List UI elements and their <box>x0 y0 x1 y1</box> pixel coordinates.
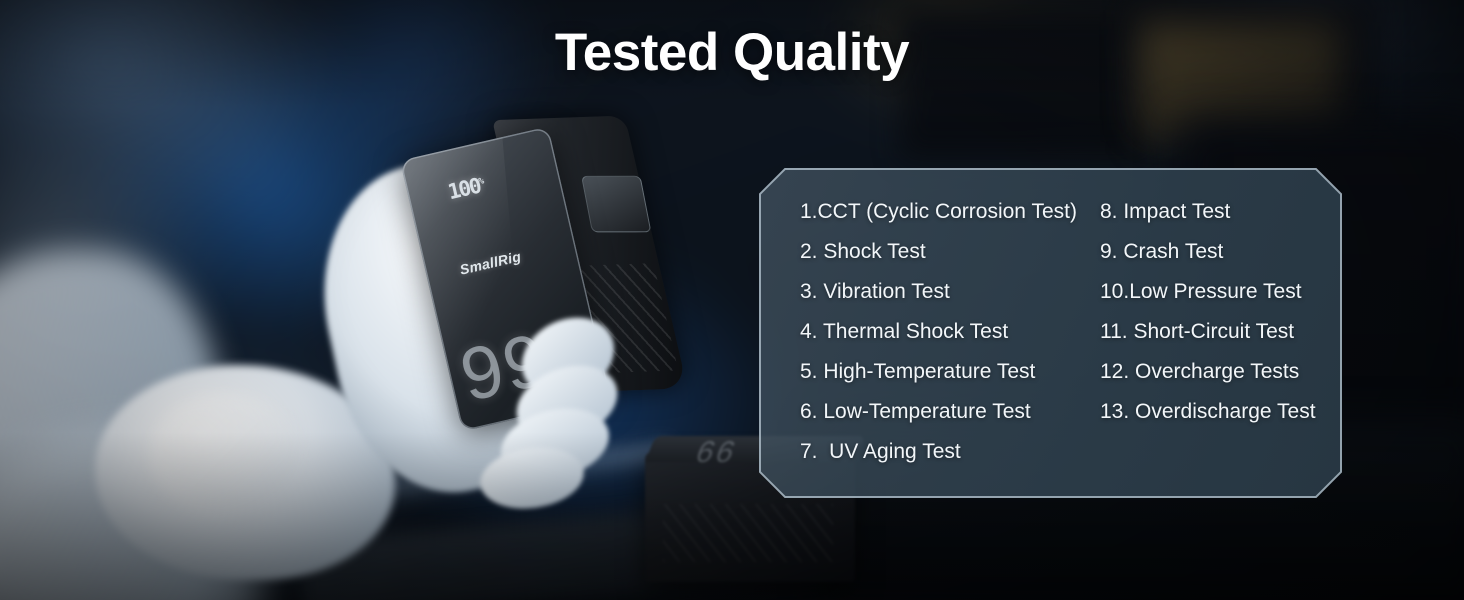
test-list-right-column: 8. Impact Test 9. Crash Test 10.Low Pres… <box>1071 192 1342 498</box>
list-item: 7. UV Aging Test <box>800 432 1071 472</box>
list-item: 8. Impact Test <box>1100 192 1342 232</box>
list-item: 6. Low-Temperature Test <box>800 392 1071 432</box>
test-list: 1.CCT (Cyclic Corrosion Test) 2. Shock T… <box>759 168 1342 498</box>
list-item: 2. Shock Test <box>800 232 1071 272</box>
list-item: 3. Vibration Test <box>800 272 1071 312</box>
list-item: 10.Low Pressure Test <box>1100 272 1342 312</box>
page-title: Tested Quality <box>0 22 1464 83</box>
list-item: 13. Overdischarge Test <box>1100 392 1342 432</box>
list-item: 12. Overcharge Tests <box>1100 352 1342 392</box>
test-list-left-column: 1.CCT (Cyclic Corrosion Test) 2. Shock T… <box>759 192 1071 498</box>
list-item: 9. Crash Test <box>1100 232 1342 272</box>
list-item: 11. Short-Circuit Test <box>1100 312 1342 352</box>
list-item: 5. High-Temperature Test <box>800 352 1071 392</box>
tested-quality-banner: 100% SmallRig 99 66 Tested Quality <box>0 0 1464 600</box>
list-item: 4. Thermal Shock Test <box>800 312 1071 352</box>
list-item: 1.CCT (Cyclic Corrosion Test) <box>800 192 1071 232</box>
test-list-panel: 1.CCT (Cyclic Corrosion Test) 2. Shock T… <box>759 168 1342 498</box>
